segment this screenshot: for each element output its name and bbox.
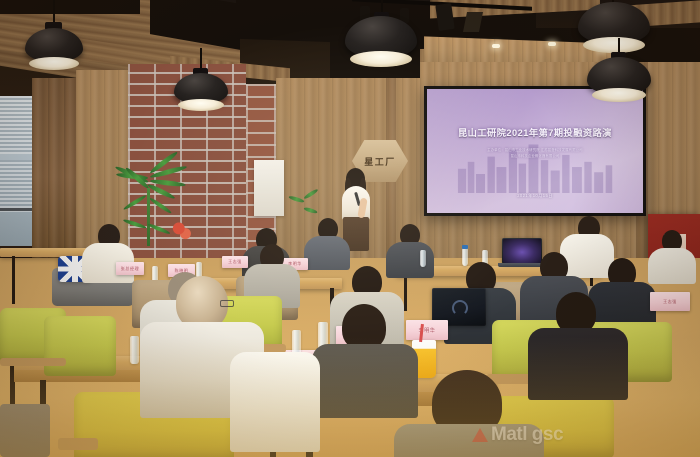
laptop-base [498, 263, 546, 267]
projection-screen-surface: 昆山工研院2021年第7期投融资路演 主办单位：昆山市工业技术研究院 江苏昆澄科… [427, 89, 643, 213]
audience-body [560, 234, 614, 278]
slide-date: 2021年10月15日 [427, 193, 643, 199]
water-bottle [462, 248, 468, 266]
name-card-front-right: 李明华 [406, 320, 448, 340]
chair-front-left-2 [44, 316, 116, 376]
laptop-screen [503, 239, 541, 263]
chair-armrest [0, 358, 66, 366]
audience-body [648, 248, 696, 284]
lamp-right-lower-glow [592, 88, 646, 102]
valance-downlight-1 [492, 44, 500, 48]
laptop-back-center [502, 238, 542, 264]
name-card-text: 王志强 [228, 259, 242, 265]
eyeglasses [220, 300, 234, 307]
laptop-logo [452, 300, 468, 316]
palm-leaf-low [147, 222, 171, 235]
slide-subtitle-line2: 昆山市科技企业孵化器有限公司 [427, 153, 643, 158]
flower-arrangement [170, 218, 192, 244]
audience-body-left-edge [230, 352, 320, 452]
name-card-text: 王志强 [663, 299, 677, 305]
bottle-cap [462, 245, 468, 249]
audience-body [304, 236, 350, 270]
ceiling-beam-4 [0, 0, 140, 14]
flipchart [254, 160, 284, 216]
lamp-center-glow [178, 99, 224, 111]
name-card: 王志强 [222, 256, 248, 268]
watermark: Matl gsc [472, 424, 563, 446]
palm-leaf-low [123, 218, 147, 230]
table-leg [404, 275, 407, 311]
valance-downlight-2 [548, 42, 556, 46]
name-card: 张总经理 [116, 262, 144, 275]
chair-foreground-armrest [58, 438, 98, 450]
audience-body-center-right [312, 344, 418, 418]
watermark-text: Matl gsc [491, 424, 563, 446]
name-card-front-far: 王志强 [650, 292, 690, 311]
plant-leaf [303, 206, 318, 215]
audience-body [386, 242, 434, 278]
name-card-text: 张总经理 [121, 266, 139, 272]
slide-title: 昆山工研院2021年第7期投融资路演 [427, 125, 643, 139]
lamp-far-right-glow [583, 37, 645, 53]
window-blind-lower [0, 160, 32, 212]
table-leg [12, 256, 15, 304]
window-mullion [0, 208, 36, 211]
palm-leaf [122, 194, 147, 210]
conference-room-photo: 星工厂 [0, 0, 700, 457]
wall-wood-left-column [32, 78, 80, 258]
water-bottle [420, 250, 426, 267]
triangle-logo-icon [472, 428, 488, 442]
seated-legs-left [0, 404, 50, 457]
slide-subtitle-line1: 主办单位：昆山市工业技术研究院 江苏昆澄科技发展有限公司 [427, 147, 643, 152]
lamp-left-glow [29, 57, 79, 70]
projection-screen: 昆山工研院2021年第7期投融资路演 主办单位：昆山市工业技术研究院 江苏昆澄科… [424, 86, 646, 216]
lamp-right-upper-glow [350, 51, 412, 67]
lamp-left-wire [53, 0, 55, 24]
audience-body-far-right [528, 328, 628, 400]
water-bottle-front [130, 336, 139, 364]
track-spot-3 [435, 3, 454, 31]
venue-sign-label: 星工厂 [364, 155, 396, 168]
palm-leaf [149, 196, 172, 215]
palm-stem [147, 188, 150, 246]
potted-plant-right [292, 192, 320, 242]
